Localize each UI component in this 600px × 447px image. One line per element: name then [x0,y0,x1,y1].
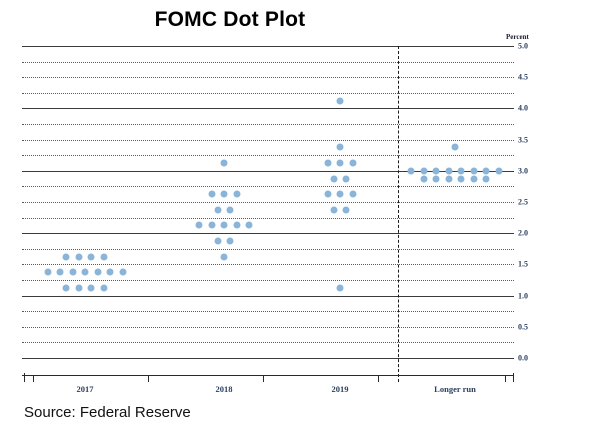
data-point-dot [57,269,64,276]
source-note: Source: Federal Reserve [24,404,191,421]
y-tick-label: 5.0 [518,42,528,51]
data-point-dot [337,97,344,104]
data-point-dot [337,284,344,291]
gridline-minor [22,218,514,219]
x-axis-tick [513,373,514,382]
data-point-dot [221,253,228,260]
gridline-major [22,171,514,172]
data-point-dot [470,167,477,174]
gridline-minor [22,155,514,156]
data-point-dot [208,222,215,229]
x-tick-label: 2019 [332,384,349,394]
x-axis-tick [148,375,149,382]
data-point-dot [445,167,452,174]
data-point-dot [343,175,350,182]
plot-area [22,46,514,358]
data-point-dot [88,284,95,291]
data-point-dot [221,160,228,167]
data-point-dot [94,269,101,276]
x-tick-label: Longer run [434,384,476,394]
y-tick-label: 1.0 [518,291,528,300]
y-tick-label: 2.0 [518,229,528,238]
data-point-dot [458,167,465,174]
gridline-minor [22,249,514,250]
data-point-dot [483,167,490,174]
gridline-major [22,108,514,109]
gridline-major [22,358,514,359]
data-point-dot [343,206,350,213]
y-axis-unit-label: Percent [506,33,529,41]
data-point-dot [246,222,253,229]
gridline-minor [22,202,514,203]
data-point-dot [88,253,95,260]
gridline-minor [22,186,514,187]
x-axis-tick [505,375,506,382]
gridline-major [22,233,514,234]
forecast-divider-line [398,46,399,382]
data-point-dot [349,160,356,167]
data-point-dot [324,160,331,167]
data-point-dot [349,191,356,198]
data-point-dot [330,175,337,182]
y-tick-label: 3.0 [518,166,528,175]
y-tick-label: 4.0 [518,104,528,113]
y-tick-label: 1.5 [518,260,528,269]
y-tick-label: 0.0 [518,354,528,363]
gridline-minor [22,327,514,328]
page-title: FOMC Dot Plot [0,8,460,32]
data-point-dot [452,144,459,151]
data-point-dot [221,222,228,229]
gridline-minor [22,342,514,343]
data-point-dot [337,160,344,167]
data-point-dot [324,191,331,198]
data-point-dot [221,191,228,198]
data-point-dot [458,175,465,182]
gridline-minor [22,124,514,125]
chart-page: FOMC Dot Plot Percent 5.04.54.03.53.02.5… [0,0,600,447]
data-point-dot [214,206,221,213]
data-point-dot [63,284,70,291]
data-point-dot [100,284,107,291]
x-axis-tick [24,373,25,382]
data-point-dot [107,269,114,276]
data-point-dot [119,269,126,276]
x-axis-tick [33,375,34,382]
data-point-dot [44,269,51,276]
data-point-dot [337,191,344,198]
data-point-dot [233,191,240,198]
data-point-dot [75,253,82,260]
data-point-dot [470,175,477,182]
x-axis-tick [378,375,379,382]
gridline-major [22,296,514,297]
x-axis-tick [263,375,264,382]
y-tick-label: 4.5 [518,73,528,82]
gridline-minor [22,77,514,78]
data-point-dot [82,269,89,276]
data-point-dot [196,222,203,229]
data-point-dot [408,167,415,174]
x-tick-label: 2018 [216,384,233,394]
data-point-dot [100,253,107,260]
data-point-dot [495,167,502,174]
y-tick-label: 2.5 [518,198,528,207]
gridline-minor [22,62,514,63]
data-point-dot [208,191,215,198]
gridline-minor [22,280,514,281]
data-point-dot [433,175,440,182]
data-point-dot [483,175,490,182]
data-point-dot [445,175,452,182]
data-point-dot [63,253,70,260]
x-tick-label: 2017 [77,384,94,394]
x-axis-line [22,375,514,376]
data-point-dot [337,144,344,151]
data-point-dot [227,206,234,213]
gridline-major [22,46,514,47]
data-point-dot [69,269,76,276]
gridline-minor [22,93,514,94]
data-point-dot [420,175,427,182]
data-point-dot [75,284,82,291]
data-point-dot [420,167,427,174]
y-tick-label: 3.5 [518,135,528,144]
data-point-dot [227,238,234,245]
data-point-dot [433,167,440,174]
data-point-dot [214,238,221,245]
gridline-minor [22,264,514,265]
data-point-dot [233,222,240,229]
gridline-minor [22,140,514,141]
gridline-minor [22,311,514,312]
data-point-dot [330,206,337,213]
y-tick-label: 0.5 [518,322,528,331]
